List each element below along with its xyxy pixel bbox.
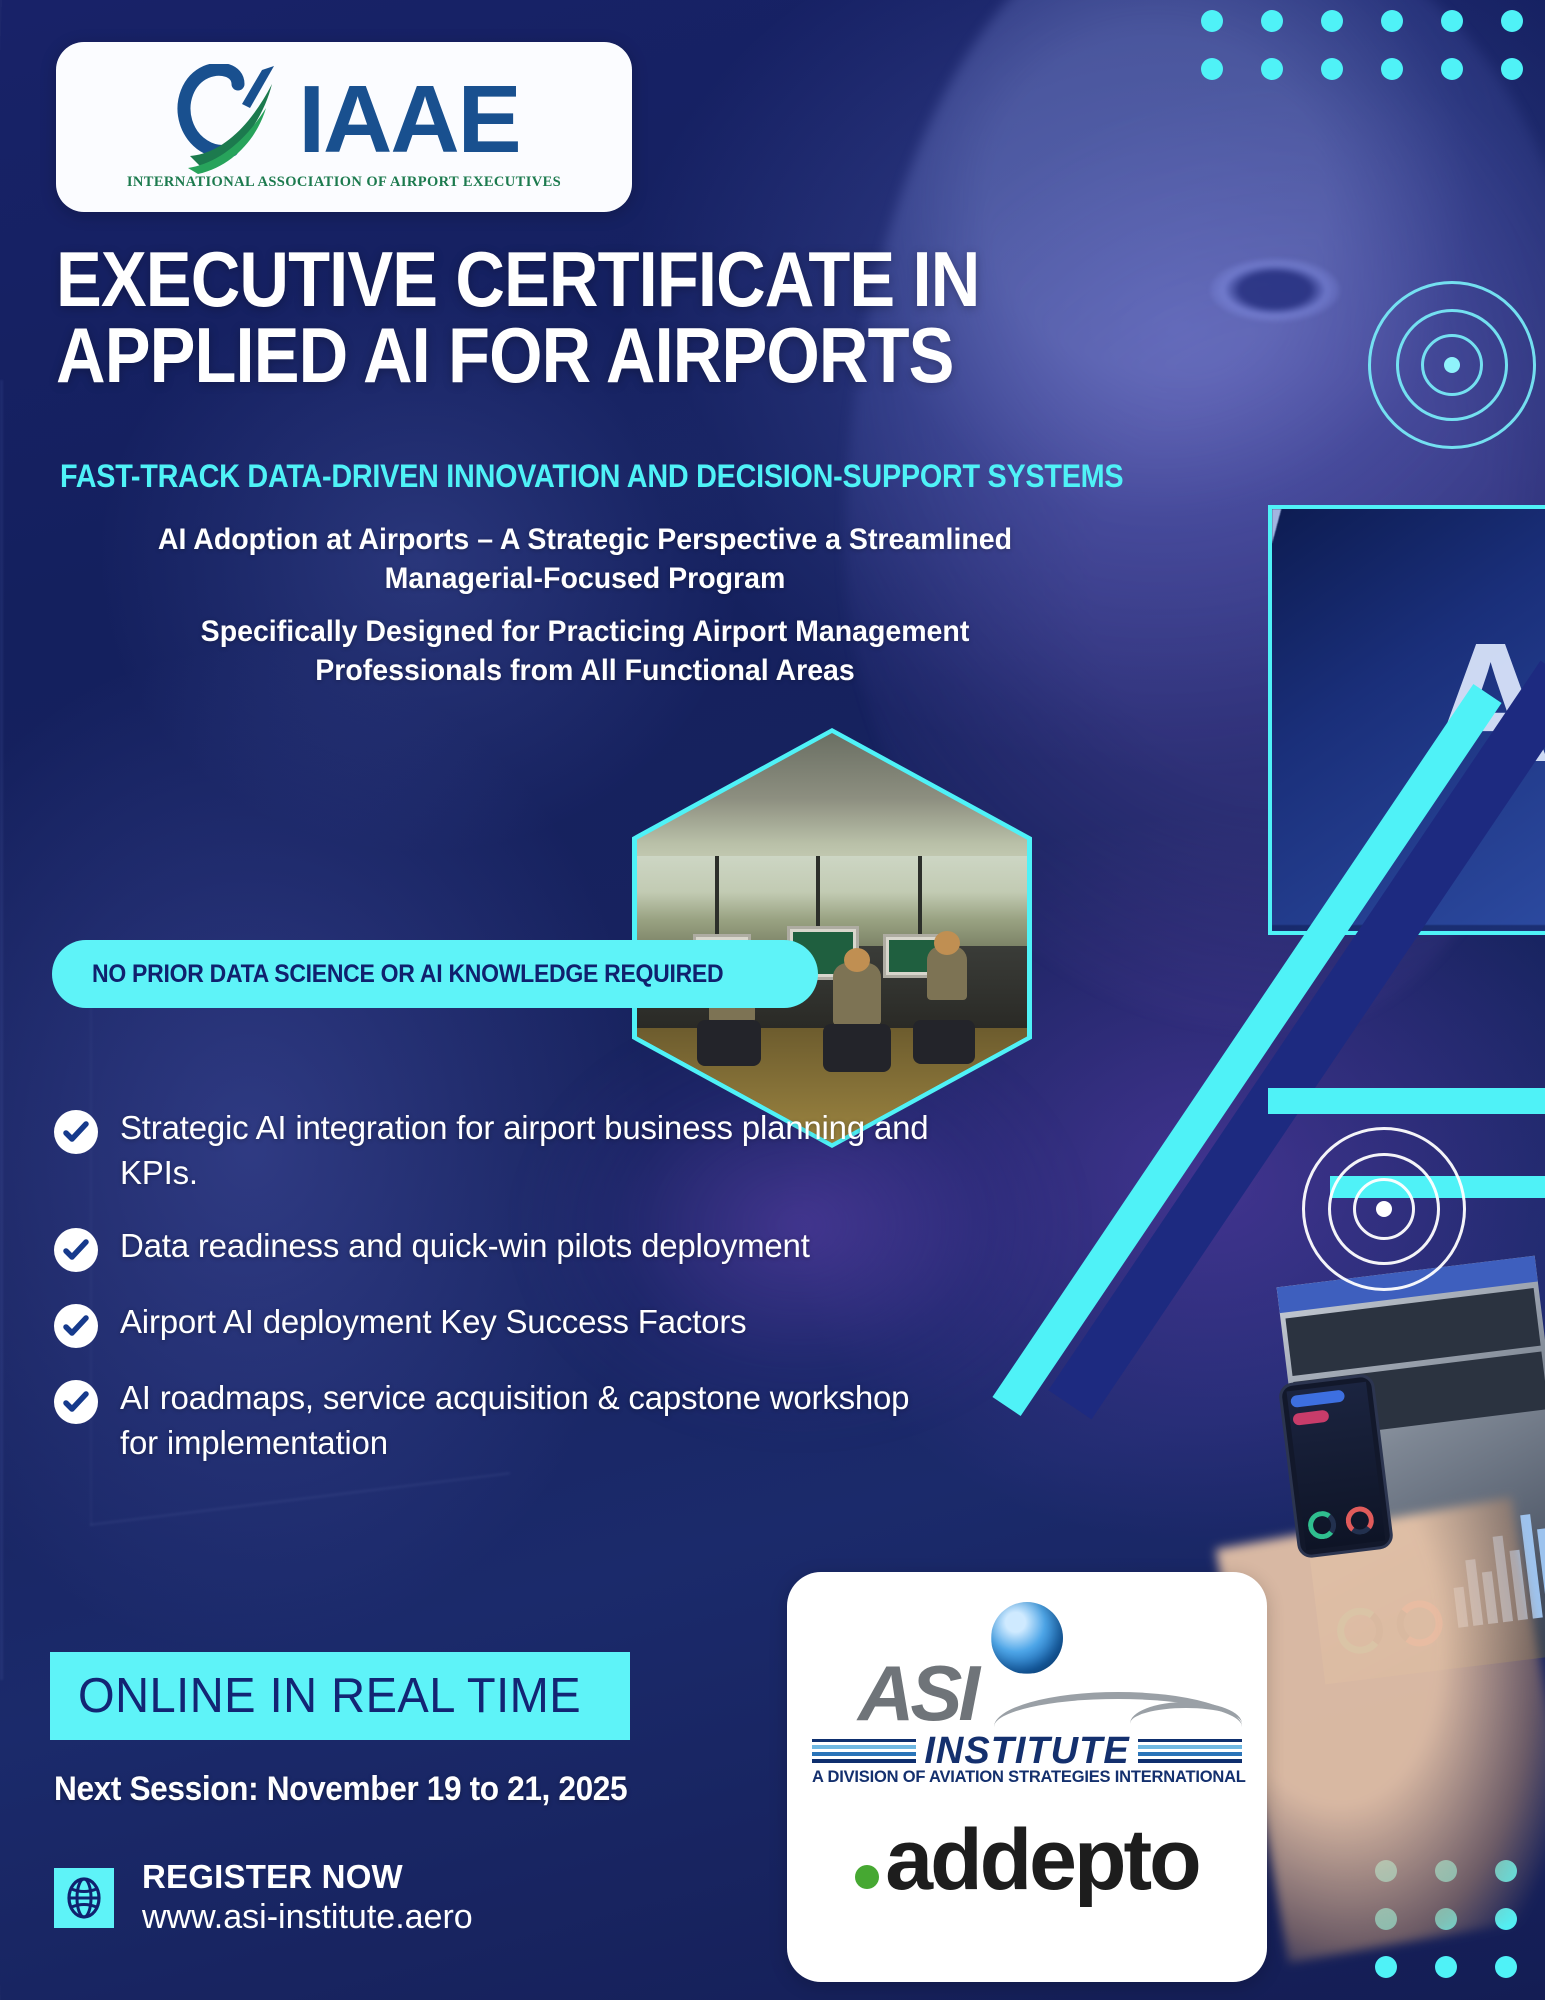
list-item-label: Data readiness and quick-win pilots depl… [120, 1224, 810, 1269]
tower-ceiling [637, 733, 1027, 856]
tower-chair [913, 1020, 975, 1064]
asi-tagline: A DIVISION OF AVIATION STRATEGIES INTERN… [812, 1768, 1242, 1787]
globe-icon [54, 1868, 114, 1928]
addepto-wordmark: addepto [885, 1822, 1198, 1899]
airplane-swoosh-icon [168, 64, 294, 176]
tower-controller [833, 963, 881, 1025]
register-url[interactable]: www.asi-institute.aero [142, 1898, 473, 1937]
check-circle-icon [54, 1228, 98, 1272]
list-item-label: Strategic AI integration for airport bus… [120, 1106, 934, 1196]
iaae-acronym: IAAE [298, 74, 519, 165]
check-circle-icon [54, 1110, 98, 1154]
list-item: Strategic AI integration for airport bus… [54, 1106, 934, 1196]
partner-logo-card: ASI INSTITUTE A DIVISION OF AVIATION STR… [787, 1572, 1267, 1982]
asi-institute-row: INSTITUTE [812, 1736, 1242, 1766]
iaae-logo-card: IAAE INTERNATIONAL ASSOCIATION OF AIRPOR… [56, 42, 632, 212]
list-item: AI roadmaps, service acquisition & capst… [54, 1376, 934, 1466]
status-badge: NO PRIOR DATA SCIENCE OR AI KNOWLEDGE RE… [52, 940, 818, 1008]
radar-rings-icon [1300, 1125, 1468, 1293]
list-item: Airport AI deployment Key Success Factor… [54, 1300, 934, 1348]
check-circle-icon [54, 1304, 98, 1348]
register-cta[interactable]: REGISTER NOW www.asi-institute.aero [54, 1858, 473, 1937]
delivery-format-label: ONLINE IN REAL TIME [78, 1668, 581, 1724]
prerequisite-label: NO PRIOR DATA SCIENCE OR AI KNOWLEDGE RE… [92, 960, 723, 989]
ai-head-eye [1210, 258, 1340, 322]
poster-root: A [0, 0, 1545, 2000]
list-item-label: AI roadmaps, service acquisition & capst… [120, 1376, 934, 1466]
asi-institute-word: INSTITUTE [916, 1730, 1137, 1773]
page-title-line-1: EXECUTIVE CERTIFICATE IN [56, 242, 971, 318]
control-tower-hexagon-image [632, 728, 1032, 1148]
list-item: Data readiness and quick-win pilots depl… [54, 1224, 934, 1272]
tower-controller [927, 946, 967, 1000]
radar-rings-icon [1367, 280, 1537, 450]
dot-grid-icon [1201, 10, 1523, 80]
register-title[interactable]: REGISTER NOW [142, 1858, 473, 1896]
list-item-label: Airport AI deployment Key Success Factor… [120, 1300, 746, 1345]
cyan-bar [1268, 1088, 1545, 1114]
hexagon-photo [637, 733, 1027, 1143]
tower-chair [823, 1024, 891, 1072]
benefits-list: Strategic AI integration for airport bus… [54, 1106, 934, 1494]
asi-acronym: ASI [858, 1658, 976, 1728]
asi-stripes-left [812, 1739, 916, 1763]
delivery-format-banner: ONLINE IN REAL TIME [50, 1652, 630, 1740]
kicker-subtitle: FAST-TRACK DATA-DRIVEN INNOVATION AND DE… [60, 458, 1059, 495]
globe-3d-icon [991, 1602, 1063, 1674]
tower-chair [697, 1020, 761, 1066]
asi-stripes-right [1138, 1739, 1242, 1763]
addepto-dot-icon [855, 1865, 879, 1889]
check-circle-icon [54, 1380, 98, 1424]
page-title: EXECUTIVE CERTIFICATE IN APPLIED AI FOR … [56, 242, 971, 393]
asi-institute-logo: ASI INSTITUTE A DIVISION OF AVIATION STR… [812, 1596, 1242, 1796]
iaae-tagline: INTERNATIONAL ASSOCIATION OF AIRPORT EXE… [127, 174, 561, 191]
lead-paragraph-1: AI Adoption at Airports – A Strategic Pe… [143, 520, 1027, 598]
addepto-logo: addepto [855, 1822, 1198, 1899]
next-session-date: Next Session: November 19 to 21, 2025 [54, 1770, 627, 1809]
page-title-line-2: APPLIED AI FOR AIRPORTS [56, 318, 971, 394]
lead-paragraph-2: Specifically Designed for Practicing Air… [143, 612, 1027, 690]
